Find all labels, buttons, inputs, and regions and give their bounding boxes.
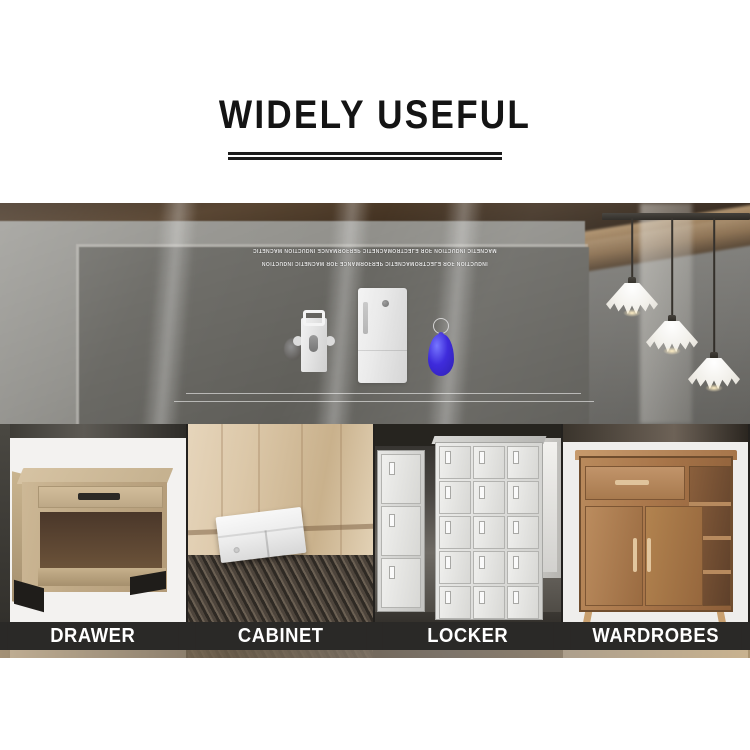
locker-cell	[473, 516, 505, 549]
lamp-cap	[668, 315, 676, 322]
locker-cell	[439, 481, 471, 514]
lamp-cord	[671, 217, 673, 317]
mirrored-caption-line-2: ИOITƆUDИI ƆITƎИƆAM ЯOF ƎƆИAMЯOFЯƎP ƆITƎИ…	[0, 260, 750, 266]
locker-cell	[439, 446, 471, 479]
lamp-cap	[710, 352, 718, 359]
lamp-cord	[713, 217, 715, 354]
locker-cell	[381, 454, 421, 504]
drawer-handle	[78, 493, 120, 500]
lamp-glow	[623, 309, 641, 317]
divider-line-bottom	[228, 157, 502, 160]
rfid-key-fob	[428, 318, 454, 376]
cabinet-lock-latch	[293, 310, 335, 372]
locker-cell	[507, 481, 539, 514]
bottom-photo-sliver	[0, 650, 750, 658]
rfid-lock-module	[358, 288, 407, 383]
locker-cell	[439, 551, 471, 584]
thumbnail-label-wardrobes: WARDROBES	[570, 622, 741, 650]
lamp-glow	[705, 384, 723, 392]
locker-cell	[439, 586, 471, 619]
photo-top-band	[0, 424, 186, 438]
lock-seam-vertical	[264, 531, 269, 558]
divider-line-top	[228, 152, 502, 155]
locker-cell	[473, 446, 505, 479]
header-section: WIDELY USEFUL	[0, 0, 750, 203]
lock-slot	[309, 335, 318, 352]
lamp-cord	[631, 217, 633, 279]
thumbnail-wardrobes[interactable]: WARDROBES	[563, 424, 750, 658]
locker-cell	[439, 516, 471, 549]
wardrobe-handle-right	[647, 538, 651, 572]
thumbnail-label-locker: LOCKER	[382, 622, 553, 650]
title-divider	[228, 152, 502, 161]
mirrored-underline-2	[174, 401, 594, 402]
wardrobe-drawer-handle	[615, 480, 649, 485]
lock-seam-horizontal	[217, 526, 303, 538]
locker-cell	[473, 586, 505, 619]
locker-cell	[381, 558, 421, 608]
fob-body	[428, 334, 454, 376]
thumbnail-locker[interactable]: LOCKER	[375, 424, 563, 658]
curtain	[640, 203, 692, 424]
locker-cell	[507, 446, 539, 479]
locker-cell	[473, 551, 505, 584]
wardrobe-handle-left	[633, 538, 637, 572]
module-sensor-strip	[363, 302, 368, 334]
hero-banner: ƆITƎИƆAM ИOITƆUDИI ƎƆИAMЯOFЯƎP ƆITƎИƆAMO…	[0, 203, 750, 424]
nightstand-open-shelf	[40, 512, 162, 568]
lamp-mount-bar	[602, 213, 750, 220]
lock-screw-hole	[233, 547, 240, 554]
thumbnail-label-cabinet: CABINET	[195, 622, 366, 650]
module-seam	[358, 350, 407, 351]
thumbnail-drawer[interactable]: DRAWER	[0, 424, 188, 658]
lamp-cap	[628, 277, 636, 284]
lamp-glow	[663, 347, 681, 355]
locker-cell	[507, 551, 539, 584]
thumbnail-cabinet[interactable]: CABINET	[188, 424, 376, 658]
locker-cell	[507, 516, 539, 549]
page-title: WIDELY USEFUL	[45, 95, 705, 135]
mirrored-caption-line-1: ƆITƎИƆAM ИOITƆUDИI ƎƆИAMЯOFЯƎP ƆITƎИƆAMO…	[0, 247, 750, 253]
photo-top-band	[563, 424, 749, 442]
thumbnail-label-drawer: DRAWER	[7, 622, 178, 650]
wardrobe-door-right	[645, 506, 703, 606]
locker-cell	[507, 586, 539, 619]
footer-whitespace	[0, 658, 750, 750]
lock-hook	[303, 310, 325, 326]
module-indicator-led	[382, 300, 389, 307]
locker-cell	[473, 481, 505, 514]
locker-cell	[381, 506, 421, 556]
application-thumbnail-strip: DRAWER CABINET	[0, 424, 750, 658]
mirrored-underline-1	[186, 393, 581, 394]
